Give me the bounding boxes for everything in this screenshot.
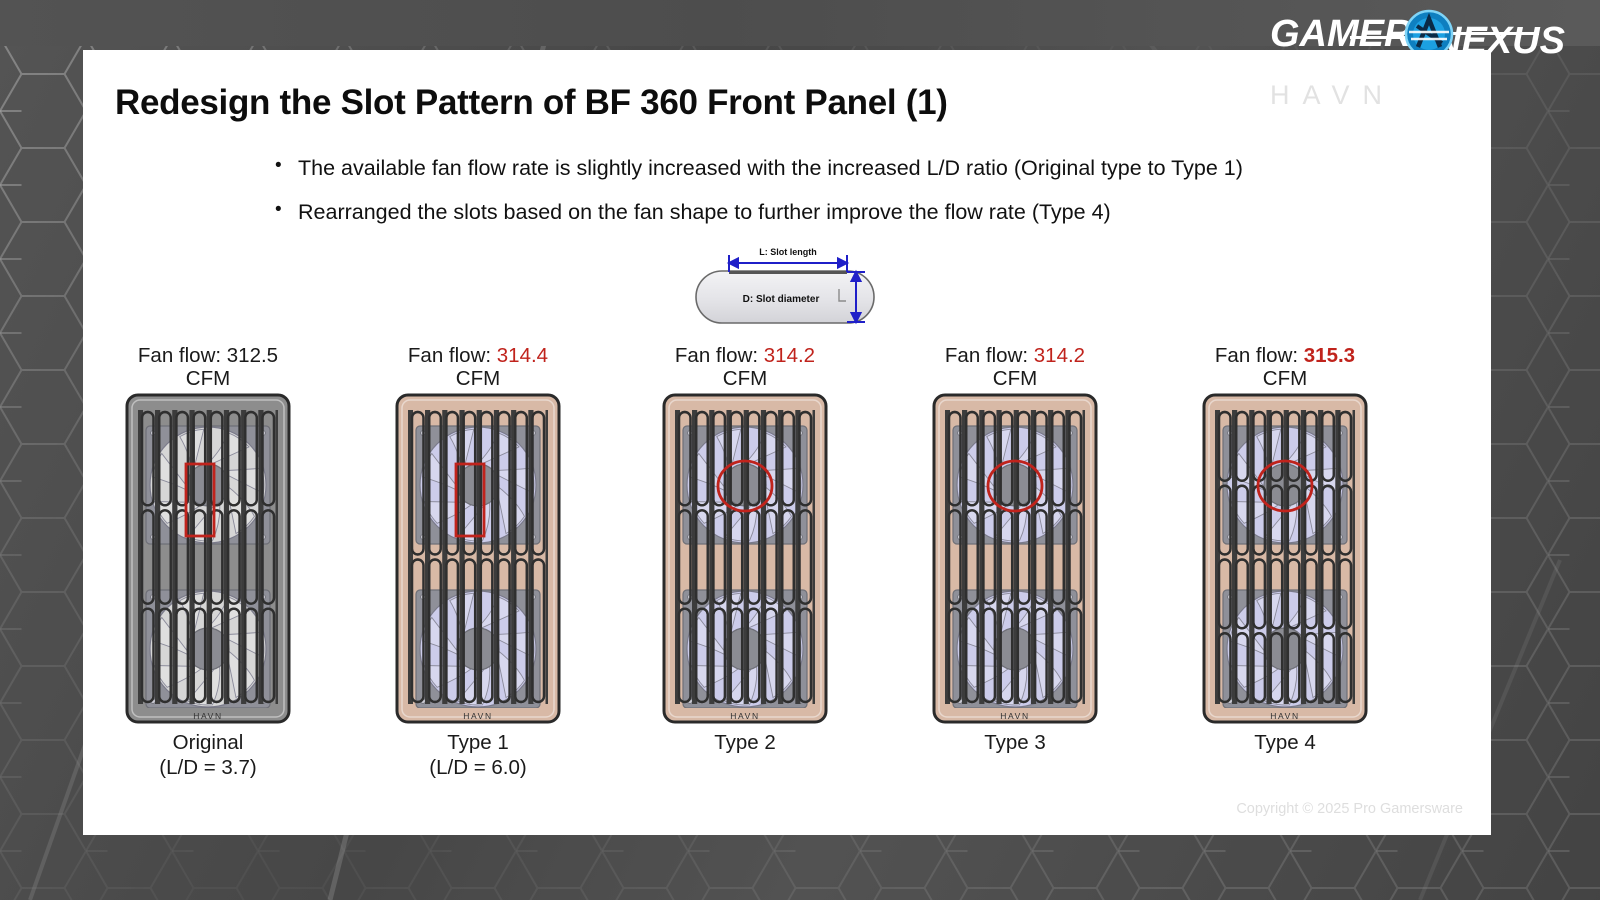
fan-flow-value: 312.5 (227, 344, 278, 367)
fan-flow-unit: CFM (890, 368, 1140, 391)
bullet-list: The available fan flow rate is slightly … (273, 155, 1273, 243)
fan-flow-value: 314.2 (764, 344, 815, 367)
fan-flow-prefix: Fan flow: (1215, 344, 1304, 367)
slot-diameter-label: D: Slot diameter (743, 294, 820, 305)
fan-panel-graphic: HAVN (890, 392, 1140, 725)
panel-brand-label: HAVN (1000, 711, 1029, 721)
slide-canvas: HAVN Redesign the Slot Pattern of BF 360… (83, 50, 1491, 835)
front-panel-illustration: HAVN (931, 392, 1099, 725)
fan-panel-graphic: HAVN (353, 392, 603, 725)
panel-caption-name: Type 4 (1254, 731, 1316, 754)
slot-dimension-diagram: L: Slot length D: Slot diameter (693, 245, 878, 325)
front-panel-illustration: HAVN (124, 392, 292, 725)
list-item: Rearranged the slots based on the fan sh… (273, 199, 1273, 225)
fan-panel-graphic: HAVN (620, 392, 870, 725)
fan-panel-graphic: HAVN (83, 392, 333, 725)
fan-flow-value: 315.3 (1304, 344, 1355, 367)
fan-flow-unit: CFM (620, 368, 870, 391)
fan-panel-graphic: HAVN (1160, 392, 1410, 725)
panel-column: Fan flow: 315.3CFMHAVNType 4 (1160, 345, 1410, 756)
fan-flow-label: Fan flow: 315.3CFM (1160, 345, 1410, 391)
fan-flow-prefix: Fan flow: (945, 344, 1034, 367)
panel-caption: Type 3 (890, 731, 1140, 756)
list-item: The available fan flow rate is slightly … (273, 155, 1273, 181)
front-panel-illustration: HAVN (394, 392, 562, 725)
panel-brand-label: HAVN (463, 711, 492, 721)
panel-column: Fan flow: 312.5CFMHAVNOriginal(L/D = 3.7… (83, 345, 333, 780)
panel-caption-name: Type 3 (984, 731, 1046, 754)
panel-comparison-row: Fan flow: 312.5CFMHAVNOriginal(L/D = 3.7… (83, 345, 1491, 835)
panel-caption: Type 2 (620, 731, 870, 756)
fan-flow-unit: CFM (83, 368, 333, 391)
panel-caption-ld-ratio: (L/D = 3.7) (83, 756, 333, 781)
panel-column: Fan flow: 314.2CFMHAVNType 3 (890, 345, 1140, 756)
fan-flow-label: Fan flow: 312.5CFM (83, 345, 333, 391)
fan-flow-unit: CFM (353, 368, 603, 391)
panel-column: Fan flow: 314.2CFMHAVNType 2 (620, 345, 870, 756)
panel-column: Fan flow: 314.4CFMHAVNType 1(L/D = 6.0) (353, 345, 603, 780)
fan-flow-value: 314.4 (497, 344, 548, 367)
fan-flow-prefix: Fan flow: (408, 344, 497, 367)
panel-brand-label: HAVN (1270, 711, 1299, 721)
panel-caption: Type 4 (1160, 731, 1410, 756)
panel-caption-name: Original (173, 731, 244, 754)
slot-length-label: L: Slot length (759, 247, 817, 257)
fan-flow-label: Fan flow: 314.4CFM (353, 345, 603, 391)
panel-brand-label: HAVN (730, 711, 759, 721)
page-title: Redesign the Slot Pattern of BF 360 Fron… (115, 83, 948, 123)
front-panel-illustration: HAVN (661, 392, 829, 725)
panel-caption-name: Type 1 (447, 731, 509, 754)
fan-flow-prefix: Fan flow: (138, 344, 227, 367)
fan-flow-value: 314.2 (1034, 344, 1085, 367)
fan-flow-label: Fan flow: 314.2CFM (620, 345, 870, 391)
panel-caption-ld-ratio: (L/D = 6.0) (353, 756, 603, 781)
fan-flow-prefix: Fan flow: (675, 344, 764, 367)
havn-watermark: HAVN (1270, 80, 1395, 111)
fan-flow-unit: CFM (1160, 368, 1410, 391)
panel-brand-label: HAVN (193, 711, 222, 721)
panel-caption: Type 1(L/D = 6.0) (353, 731, 603, 780)
copyright-notice: Copyright © 2025 Pro Gamersware (1236, 801, 1463, 817)
panel-caption: Original(L/D = 3.7) (83, 731, 333, 780)
fan-flow-label: Fan flow: 314.2CFM (890, 345, 1140, 391)
front-panel-illustration: HAVN (1201, 392, 1369, 725)
panel-caption-name: Type 2 (714, 731, 776, 754)
